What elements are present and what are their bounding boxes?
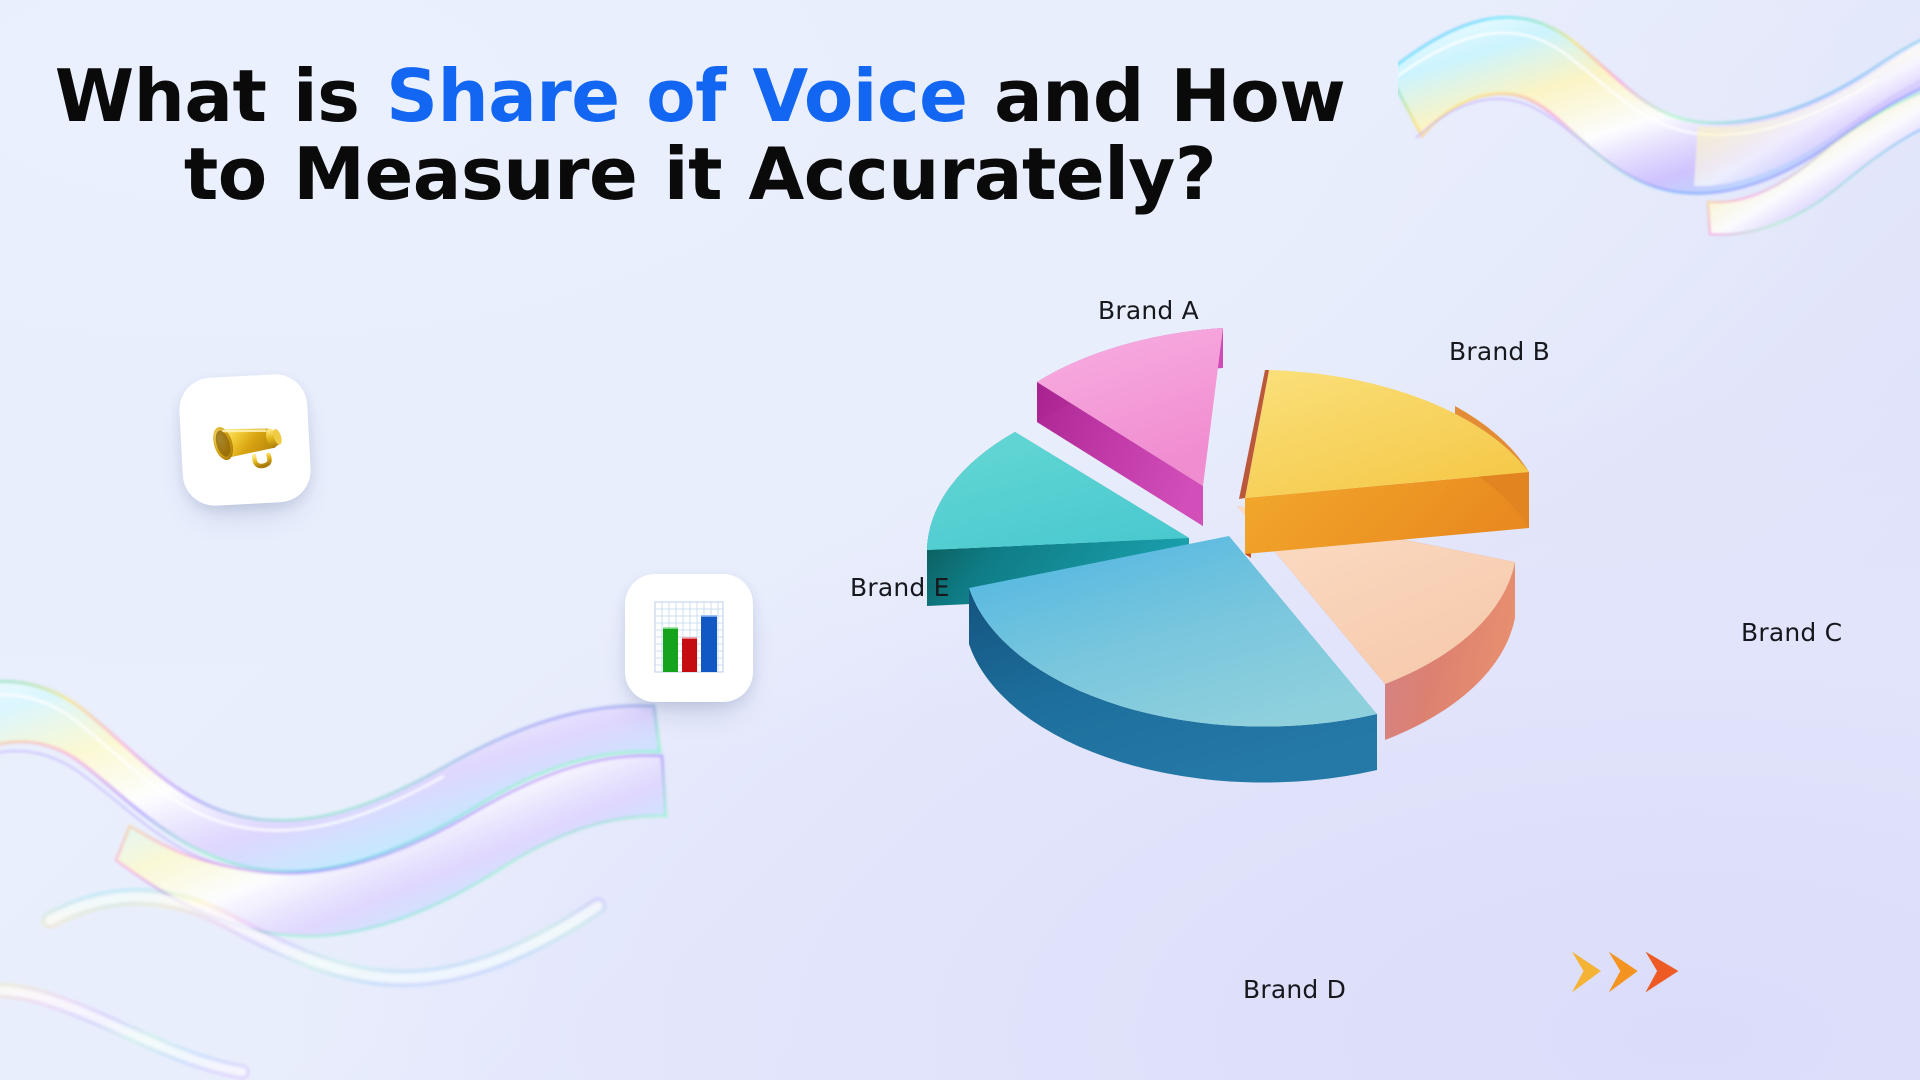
page-title: What is Share of Voice and How to Measur… <box>0 58 1400 214</box>
bar-chart-icon <box>647 596 731 680</box>
title-line2: to Measure it Accurately? <box>0 136 1400 214</box>
pie-label-brand-a: Brand A <box>1098 296 1199 325</box>
bar-chart-card <box>625 574 753 702</box>
title-line1-prefix: What is <box>55 54 386 138</box>
chevrons-svg <box>1570 947 1690 997</box>
pie-label-brand-c: Brand C <box>1741 618 1842 647</box>
slice-brand-b <box>1239 370 1529 558</box>
megaphone-card <box>178 373 313 508</box>
glass-ribbon-icon <box>1398 0 1920 276</box>
pie-chart-svg <box>955 280 1745 900</box>
megaphone-icon <box>195 390 296 491</box>
slide-canvas: What is Share of Voice and How to Measur… <box>0 0 1920 1080</box>
pie-label-brand-d: Brand D <box>1243 975 1346 1004</box>
pie-label-brand-e: Brand E <box>850 573 950 602</box>
pie-label-brand-b: Brand B <box>1449 337 1550 366</box>
title-highlight: Share of Voice <box>386 54 967 138</box>
pie-chart <box>955 280 1745 900</box>
title-line1-suffix: and How <box>968 54 1346 138</box>
triple-chevron-right-icon <box>1570 948 1690 996</box>
glass-ribbon-icon <box>0 620 690 1080</box>
